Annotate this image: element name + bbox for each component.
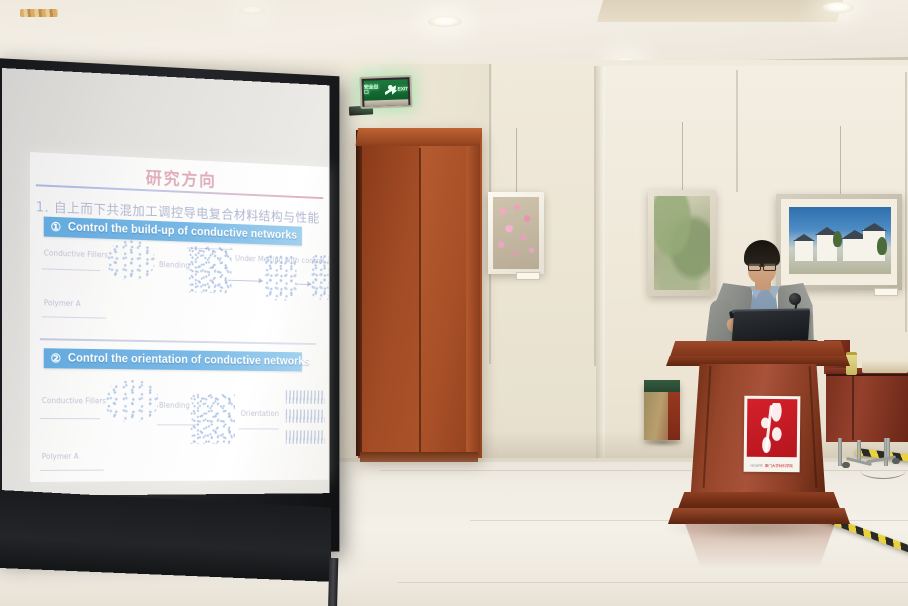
ceiling-downlight: [239, 6, 265, 14]
emergency-exit-sign: 安全出口 EXIT: [359, 75, 412, 109]
pink-blossom-painting: [488, 192, 544, 274]
wall-seam: [736, 70, 738, 192]
slide-s2-filler-cloud: [104, 379, 159, 423]
painting-canvas: [654, 196, 710, 290]
slide-s2-label-condition: Orientation: [241, 409, 279, 419]
exit-sign-right-text: EXIT: [398, 87, 408, 92]
slide-section-2-band: ② Control the orientation of conductive …: [44, 348, 302, 371]
slide-s1-label-fillers: Conductive Fillers: [44, 248, 108, 260]
slide-s1-label-polymer: Polymer A: [44, 298, 81, 309]
running-person-icon: [385, 84, 396, 95]
door-leaf-left[interactable]: [362, 142, 420, 456]
slide-s2-oriented-2: [286, 409, 325, 422]
slide-s1-arrow: [228, 280, 263, 282]
slide-s1-network-2: [311, 254, 329, 300]
glasses-icon: [748, 263, 776, 269]
slide-s2-oriented-3: [286, 430, 325, 443]
projection-screen: 研究方向 1. 自上而下共混加工调控导电复合材料结构与性能 ① Control …: [0, 58, 366, 606]
slide-section-2-heading: Control the orientation of conductive ne…: [68, 353, 310, 368]
slide-content: 研究方向 1. 自上而下共混加工调控导电复合材料结构与性能 ① Control …: [30, 152, 329, 482]
emblem-caption-chinese: 厦门大学材料学院: [765, 463, 793, 468]
watercolor-village-painting: [776, 194, 902, 290]
floor-tile-line: [398, 582, 908, 583]
door-leaf-right[interactable]: [420, 146, 468, 456]
floor-cable: [860, 462, 906, 479]
art-hanging-wire: [840, 126, 841, 194]
slide-s2-label-fillers: Conductive Fillers: [42, 396, 106, 406]
slide-title: 研究方向: [146, 164, 217, 192]
side-table-front: [826, 376, 908, 442]
wall-corner: [596, 66, 605, 466]
exit-sign-face: 安全出口 EXIT: [364, 79, 409, 101]
painting-canvas: [493, 197, 539, 269]
microphone-icon: [789, 293, 801, 305]
door-header: [355, 128, 482, 146]
slide-s1-filler-cloud: [106, 239, 155, 282]
ceiling-downlight: [822, 2, 854, 13]
painting-canvas: [789, 207, 891, 274]
slide-section-2-number: ②: [51, 352, 62, 364]
slide-s2-label-process: Blending: [159, 401, 190, 411]
glasses-lens-right: [763, 263, 776, 271]
storage-box-lid: [644, 380, 680, 392]
side-table-seam: [852, 376, 854, 440]
conference-room-photo: 安全出口 EXIT: [0, 0, 908, 606]
podium-emblem: HOUPE 厦门大学材料学院: [744, 396, 801, 473]
glasses-lens-left: [748, 263, 761, 271]
exit-sign-base: [364, 99, 408, 107]
projected-slide: 研究方向 1. 自上而下共混加工调控导电复合材料结构与性能 ① Control …: [30, 152, 329, 482]
slide-s2-oriented-1: [286, 390, 325, 404]
door-seam: [419, 148, 421, 454]
door-jamb: [466, 134, 480, 456]
slide-section-1-number: ①: [51, 221, 62, 233]
slide-s2-label-polymer: Polymer A: [42, 452, 79, 462]
slide-s1-arrow: [297, 284, 311, 286]
storage-box-side: [668, 386, 680, 440]
floor-tile-line: [380, 470, 908, 471]
chair-caster: [842, 462, 850, 468]
ceiling-recess: [597, 0, 843, 22]
exit-sign-left-text: 安全出口: [364, 85, 383, 96]
tray-contents: [20, 9, 58, 17]
art-hanging-wire: [516, 128, 517, 194]
laptop-screen[interactable]: [732, 310, 810, 341]
door-sill: [360, 452, 478, 462]
emblem-red-field: [747, 399, 798, 458]
slide-s1-blend-box: [189, 246, 231, 294]
slide-s2-blend-box: [191, 393, 235, 444]
slide-s1-network-1: [264, 254, 296, 301]
painting-plaque: [516, 272, 540, 280]
wall-seam: [905, 72, 907, 332]
emblem-caption-latin: HOUPE: [751, 464, 763, 468]
ceiling-downlight: [428, 16, 462, 27]
tray: [862, 360, 908, 373]
side-table-items: [846, 352, 908, 374]
side-table-leg: [838, 438, 842, 466]
screen-support-pole[interactable]: [327, 558, 339, 606]
wall-seam: [594, 66, 596, 366]
slide-section-1-heading: Control the build-up of conductive netwo…: [68, 221, 297, 241]
painting-plaque: [874, 288, 898, 296]
emblem-caption: HOUPE 厦门大学材料学院: [747, 462, 797, 471]
slide-s1-label-process: Blending: [159, 260, 190, 271]
green-landscape-painting: [648, 190, 716, 296]
podium-shadow: [664, 516, 860, 540]
slide-section-divider: [40, 338, 316, 344]
art-hanging-wire: [682, 122, 683, 190]
